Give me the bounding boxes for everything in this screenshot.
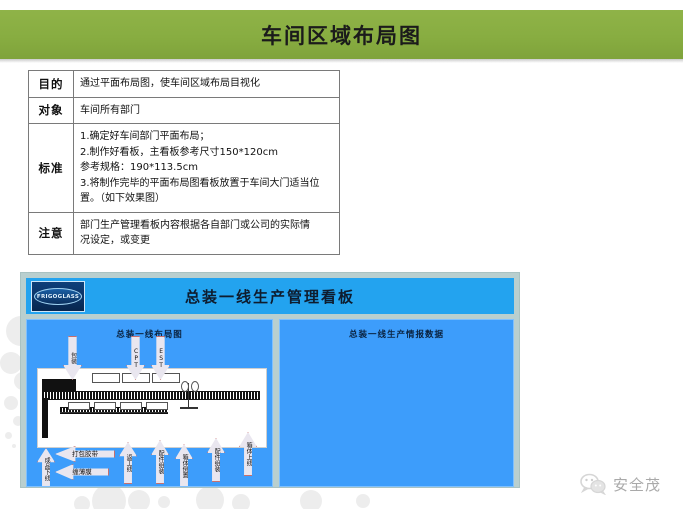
arrow-fangongxian: 返工线	[119, 442, 137, 484]
arrow-label: 打包胶带	[72, 451, 98, 458]
row-line: 参考规格：190*113.5cm	[80, 160, 333, 176]
plan-cell	[152, 373, 180, 383]
row-line: 况设定，或变更	[80, 233, 333, 249]
row-key: 对象	[29, 97, 74, 124]
row-value: 车间所有部门	[74, 97, 340, 124]
logo-text: FRIGOGLASS	[37, 294, 79, 300]
page-root: 车间区域布局图 目的 通过平面布局图，使车间区域布局目视化 对象 车间所有部门 …	[0, 0, 683, 509]
kanban-board: FRIGOGLASS 总装一线生产管理看板 总装一线布局图	[20, 272, 520, 488]
layout-pane-title: 总装一线布局图	[27, 328, 272, 340]
row-key: 注意	[29, 212, 74, 254]
kanban-title: 总装一线生产管理看板	[185, 286, 355, 307]
plan-cell	[146, 402, 168, 410]
row-value: 通过平面布局图，使车间区域布局目视化	[74, 71, 340, 98]
table-row: 对象 车间所有部门	[29, 97, 340, 124]
arrow-label: 缠薄膜	[72, 469, 92, 476]
page-title: 车间区域布局图	[261, 20, 422, 50]
table-row: 目的 通过平面布局图，使车间区域布局目视化	[29, 71, 340, 98]
plan-cell	[68, 402, 90, 410]
arrow-chanbaomo: 缠薄膜	[55, 464, 109, 480]
info-table: 目的 通过平面布局图，使车间区域布局目视化 对象 车间所有部门 标准 1.确定好…	[28, 70, 340, 255]
conveyor-left-riser	[42, 398, 48, 438]
row-line: 部门生产管理看板内容根据各自部门或公司的实际情	[80, 218, 333, 234]
banner-shadow	[0, 59, 683, 63]
plan-cell	[92, 373, 120, 383]
arrow-label: 返工线	[125, 454, 131, 472]
arrow-label: 箱体倒置	[181, 454, 187, 478]
wechat-bubbles-icon	[580, 473, 606, 495]
kanban-header: FRIGOGLASS 总装一线生产管理看板	[26, 278, 514, 314]
row-line: 1.确定好车间部门平面布局；	[80, 129, 333, 145]
row-line: 置。（如下效果图）	[80, 191, 333, 207]
conveyor-main	[42, 391, 260, 400]
watermark: 安全茂	[580, 473, 661, 495]
page-banner: 车间区域布局图	[0, 10, 683, 59]
row-line: 3.将制作完毕的平面布局图看板放置于车间大门适当位	[80, 176, 333, 192]
row-key: 标准	[29, 124, 74, 213]
arrow-label: 箱体上线	[245, 442, 251, 466]
plan-cell	[120, 402, 142, 410]
row-key: 目的	[29, 71, 74, 98]
frigoglass-logo: FRIGOGLASS	[31, 281, 85, 312]
layout-pane: 总装一线布局图	[26, 319, 273, 487]
plan-circle	[191, 381, 199, 392]
plan-base	[180, 407, 198, 409]
plan-circle	[181, 381, 189, 392]
watermark-text: 安全茂	[613, 474, 661, 495]
arrow-label: 成品下线	[43, 457, 49, 481]
plan-line	[60, 412, 168, 413]
plan-cell	[94, 402, 116, 410]
floorplan	[37, 368, 267, 448]
row-line: 车间所有部门	[80, 103, 333, 119]
kanban-body: 总装一线布局图	[26, 319, 514, 487]
data-pane-title: 总装一线生产情报数据	[280, 328, 513, 340]
conveyor-head-block	[42, 379, 76, 391]
arrow-label: 包装	[69, 352, 75, 364]
row-value: 1.确定好车间部门平面布局； 2.制作好看板，主看板参考尺寸150*120cm …	[74, 124, 340, 213]
table-row: 注意 部门生产管理看板内容根据各自部门或公司的实际情 况设定，或变更	[29, 212, 340, 254]
arrow-label: CPT	[132, 348, 138, 369]
arrow-xiangtidaozhi: 箱体倒置	[175, 444, 193, 487]
arrow-label: 配件组装	[213, 448, 219, 472]
row-line: 通过平面布局图，使车间区域布局目视化	[80, 76, 333, 92]
table-row: 标准 1.确定好车间部门平面布局； 2.制作好看板，主看板参考尺寸150*120…	[29, 124, 340, 213]
row-value: 部门生产管理看板内容根据各自部门或公司的实际情 况设定，或变更	[74, 212, 340, 254]
data-pane: 总装一线生产情报数据	[279, 319, 514, 487]
arrow-label: 配件组装	[157, 450, 163, 474]
row-line: 2.制作好看板，主看板参考尺寸150*120cm	[80, 145, 333, 161]
arrow-label: EST	[157, 348, 163, 369]
arrow-dabaojiaodai: 打包胶带	[55, 446, 115, 462]
arrow-chengpinxiaxian: 成品下线	[37, 448, 55, 487]
